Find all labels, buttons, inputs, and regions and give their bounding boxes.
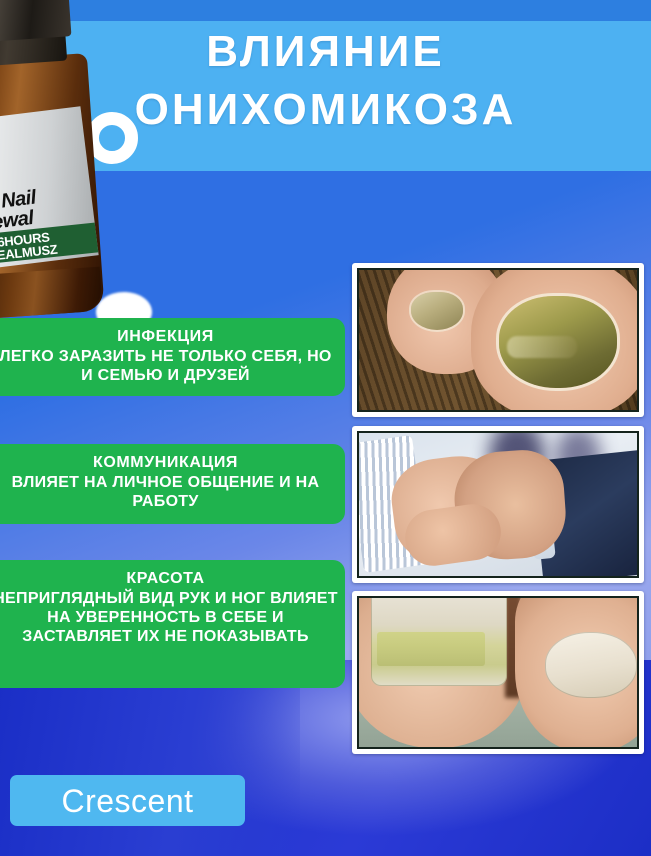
- info-box-infection: ИНФЕКЦИЯ ЛЕГКО ЗАРАЗИТЬ НЕ ТОЛЬКО СЕБЯ, …: [0, 318, 345, 396]
- page-title-line1: ВЛИЯНИЕ: [0, 30, 651, 74]
- info-box-infection-text: ЛЕГКО ЗАРАЗИТЬ НЕ ТОЛЬКО СЕБЯ, НО И СЕМЬ…: [0, 347, 339, 385]
- toenail-big-infected: [499, 296, 617, 388]
- info-box-communication-title: КОММУНИКАЦИЯ: [0, 453, 339, 473]
- info-box-beauty-title: КРАСОТА: [0, 569, 339, 589]
- toenail-right-healthy: [545, 632, 637, 698]
- info-box-beauty: КРАСОТА НЕПРИГЛЯДНЫЙ ВИД РУК И НОГ ВЛИЯЕ…: [0, 560, 345, 688]
- info-box-communication-text: ВЛИЯЕТ НА ЛИЧНОЕ ОБЩЕНИЕ И НА РАБОТУ: [0, 473, 339, 511]
- photo-infected-toenails-wood-image: [357, 268, 639, 412]
- photo-toenail-closeup: [352, 591, 644, 754]
- toenail-left-yellowed: [371, 596, 507, 686]
- photo-infected-toenails-wood: [352, 263, 644, 417]
- photo-toenail-closeup-image: [357, 596, 639, 749]
- page-title-line2: ОНИХОМИКОЗА: [0, 88, 651, 132]
- info-box-infection-title: ИНФЕКЦИЯ: [0, 327, 339, 347]
- info-box-beauty-text: НЕПРИГЛЯДНЫЙ ВИД РУК И НОГ ВЛИЯЕТ НА УВЕ…: [0, 589, 339, 647]
- toenail-small-infected: [411, 292, 463, 330]
- background-bottom-left-fade: [0, 660, 300, 856]
- page-title: ВЛИЯНИЕ ОНИХОМИКОЗА: [0, 30, 651, 132]
- info-box-communication: КОММУНИКАЦИЯ ВЛИЯЕТ НА ЛИЧНОЕ ОБЩЕНИЕ И …: [0, 444, 345, 524]
- brand-name: Crescent: [61, 785, 193, 817]
- photo-handshake: [352, 426, 644, 583]
- photo-handshake-image: [357, 431, 639, 578]
- bottle-base: [0, 267, 103, 320]
- brand-chip: Crescent: [10, 775, 245, 826]
- poster-canvas: ELHOE ungal Nail Renewal 36HOURS HEALMUS…: [0, 0, 651, 856]
